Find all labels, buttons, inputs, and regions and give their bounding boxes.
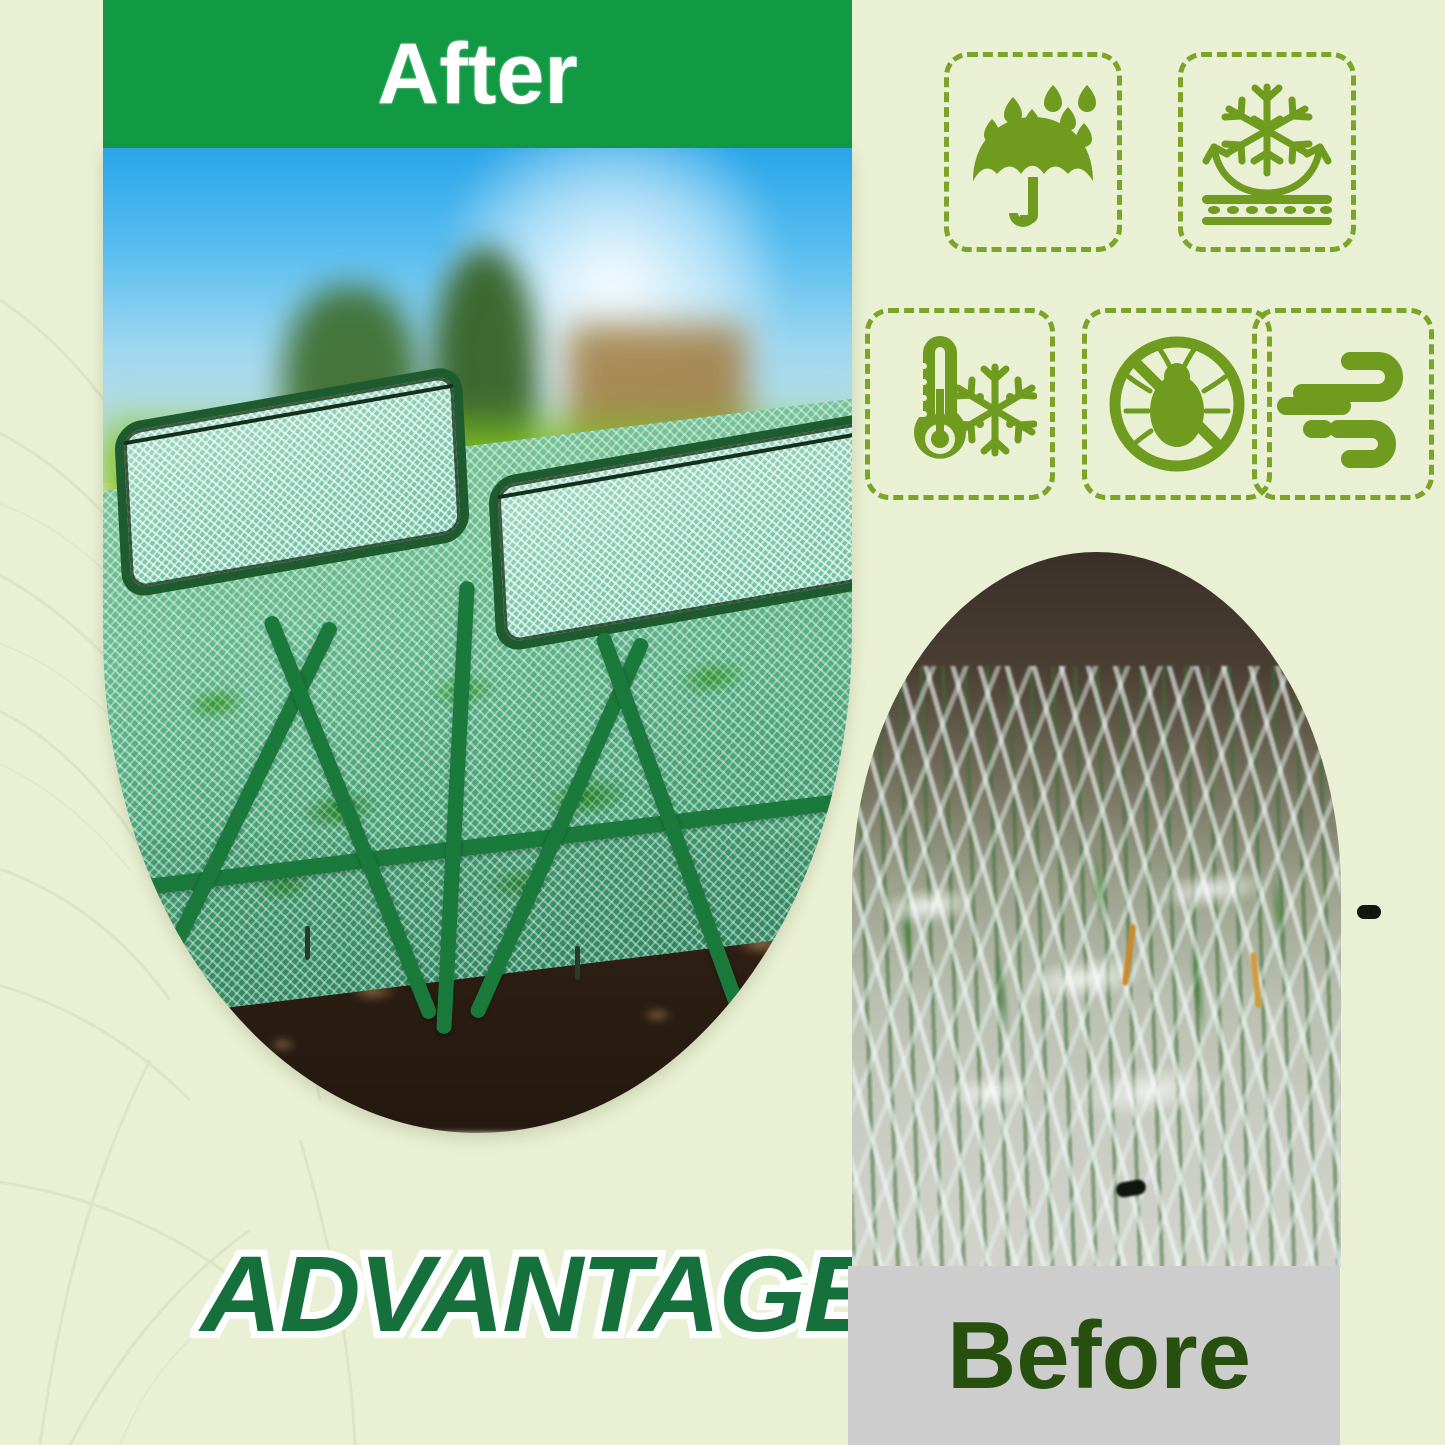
after-banner: After bbox=[103, 0, 852, 148]
waterproof-icon bbox=[944, 52, 1122, 252]
ground-peg-left bbox=[305, 926, 310, 960]
feature-icon-grid bbox=[860, 40, 1440, 510]
insulation-layer bbox=[1202, 195, 1332, 225]
ground-peg-right bbox=[575, 946, 580, 980]
ice-highlights bbox=[852, 738, 1341, 1252]
after-column: After bbox=[103, 0, 852, 1445]
advantages-headline: ADVANTAGES bbox=[201, 1240, 950, 1348]
before-banner: Before bbox=[848, 1266, 1340, 1445]
snowflake-glyph bbox=[956, 367, 1034, 453]
before-product-photo bbox=[852, 552, 1341, 1267]
product-feature-graphic: After bbox=[0, 0, 1445, 1445]
windproof-icon bbox=[1252, 308, 1434, 500]
frost-barrier-icon bbox=[1178, 52, 1356, 252]
after-label: After bbox=[377, 31, 578, 117]
temperature-icon bbox=[865, 308, 1055, 500]
edge-dash-mark bbox=[1357, 905, 1381, 919]
wind-line-top bbox=[1302, 361, 1394, 393]
before-label: Before bbox=[937, 1308, 1251, 1404]
snowflake-glyph bbox=[1225, 87, 1309, 173]
pest-proof-icon bbox=[1082, 308, 1272, 500]
bug-glyph bbox=[1126, 345, 1228, 447]
wind-line-bottom bbox=[1338, 429, 1387, 459]
after-product-photo bbox=[103, 148, 852, 1133]
